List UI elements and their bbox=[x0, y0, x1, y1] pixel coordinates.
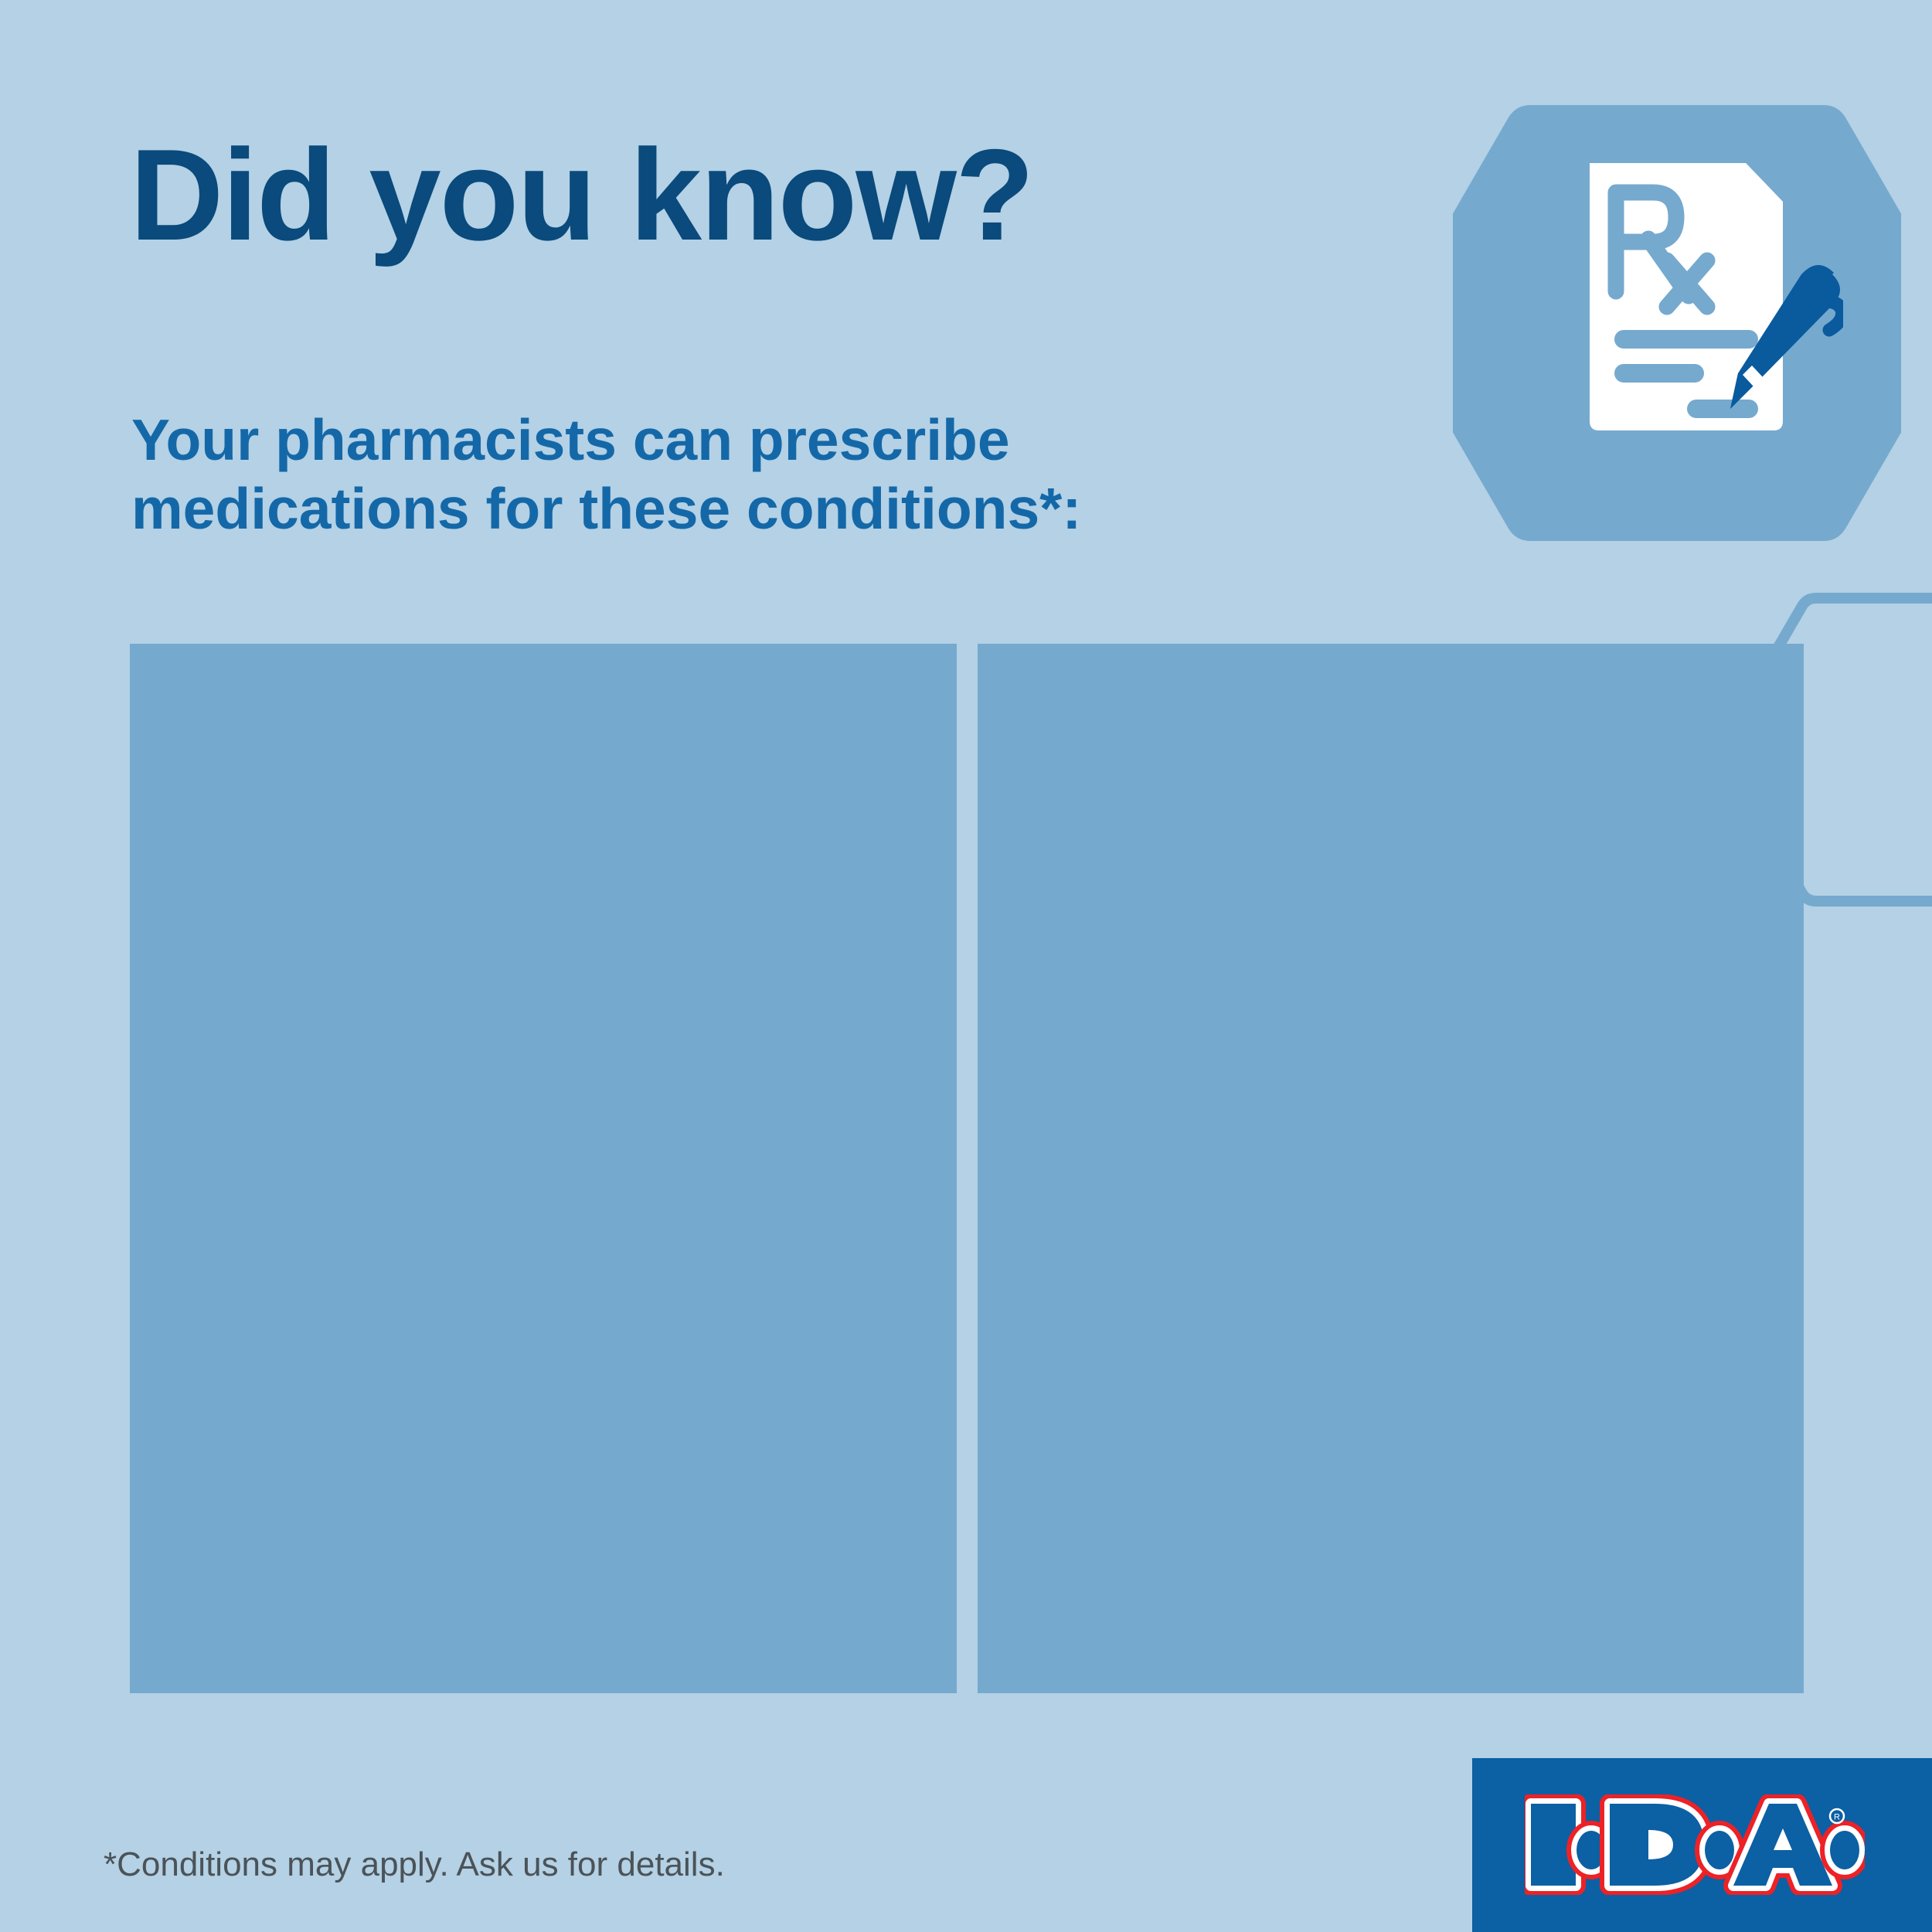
brand-logo-block: R bbox=[1472, 1758, 1932, 1932]
ida-logo: R bbox=[1525, 1794, 1865, 1895]
svg-text:R: R bbox=[1834, 1813, 1840, 1822]
poster-canvas: Did you know? Your pharmacists can presc… bbox=[0, 0, 1932, 1932]
registered-mark-icon: R bbox=[1830, 1809, 1844, 1823]
page-title: Did you know? bbox=[130, 130, 1033, 260]
subheading: Your pharmacists can prescribe medicatio… bbox=[131, 406, 1081, 543]
subheading-line-1: Your pharmacists can prescribe bbox=[131, 406, 1081, 474]
subheading-line-2: medications for these conditions*: bbox=[131, 474, 1081, 543]
content-panel-left bbox=[130, 644, 957, 1693]
content-panel-row bbox=[130, 644, 1804, 1693]
rx-prescription-icon bbox=[1580, 158, 1843, 437]
content-panel-right bbox=[978, 644, 1804, 1693]
footnote-disclaimer: *Conditions may apply. Ask us for detail… bbox=[104, 1845, 725, 1884]
